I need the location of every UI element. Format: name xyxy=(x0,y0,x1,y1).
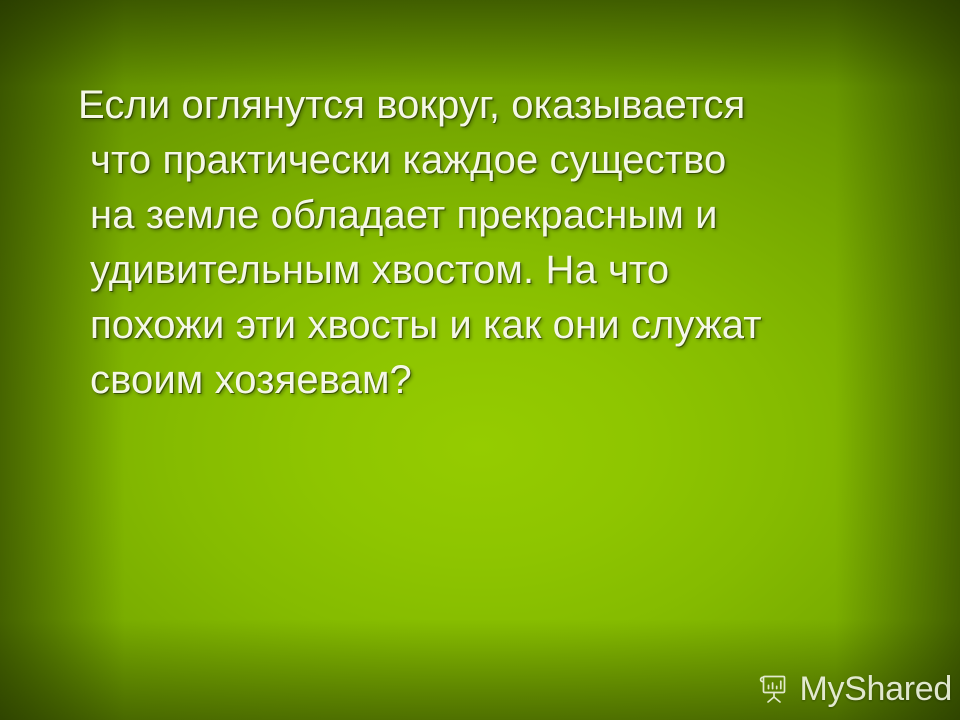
presentation-chart-icon xyxy=(758,672,792,706)
slide-body-text: Если оглянутся вокруг, оказывается что п… xyxy=(58,78,938,408)
body-line-3: на земле обладает прекрасным и xyxy=(58,188,938,243)
body-line-2: что практически каждое существо xyxy=(58,133,938,188)
presentation-slide: Если оглянутся вокруг, оказывается что п… xyxy=(0,0,960,720)
myshared-watermark[interactable]: MyShared xyxy=(758,672,952,706)
body-line-6: своим хозяевам? xyxy=(58,353,938,408)
body-line-4: удивительным хвостом. На что xyxy=(58,243,938,298)
body-line-1: Если оглянутся вокруг, оказывается xyxy=(58,78,938,133)
myshared-label: MyShared xyxy=(799,672,952,706)
body-line-5: похожи эти хвосты и как они служат xyxy=(58,298,938,353)
